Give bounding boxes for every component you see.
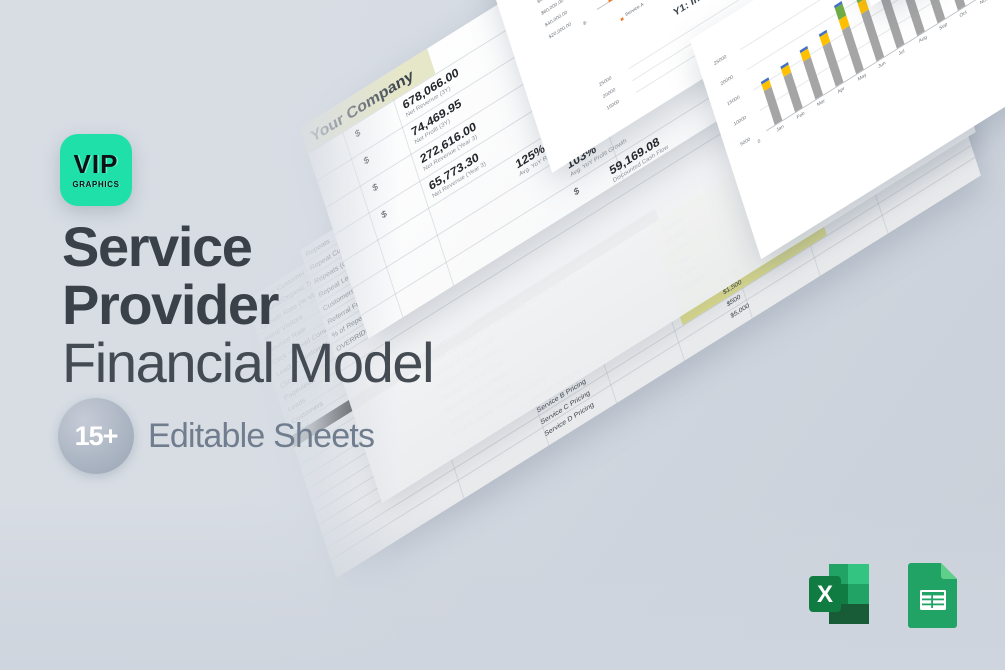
logo-subtitle: GRAPHICS (72, 180, 119, 189)
x-tick-label: Nov (979, 0, 988, 6)
legend-label-service-a: Service A (625, 2, 645, 18)
y-tick-label: 20000 (602, 87, 616, 100)
y-tick-label: 5000 (740, 137, 751, 148)
file-format-icons: X (803, 558, 969, 630)
x-tick-label: Jul (898, 49, 905, 58)
vip-graphics-logo: VIP GRAPHICS (60, 134, 132, 206)
x-tick-label: Feb (796, 111, 805, 121)
logo-wordmark: VIP (74, 151, 119, 177)
y-tick-label: 10000 (733, 115, 747, 128)
x-tick-label: May (857, 72, 867, 82)
bar-service-a-year1 (585, 0, 620, 2)
x-tick-label: Jan (776, 124, 785, 133)
y-tick-label: 25000 (598, 75, 612, 88)
title-line-1: Service (62, 218, 492, 276)
sheet-count-badge: 15+ (58, 398, 134, 474)
legend-swatch-service-a (620, 17, 623, 21)
y-tick-label: 20000 (720, 74, 734, 87)
excel-icon[interactable]: X (803, 558, 875, 630)
x-tick-label: Jun (878, 60, 887, 69)
svg-text:X: X (817, 581, 833, 608)
page-title: Service Provider Financial Model (62, 218, 492, 393)
title-line-2: Provider (62, 276, 492, 334)
y-tick-label: 15000 (727, 95, 741, 108)
y-tick-label: 15000 (606, 99, 620, 112)
sheet-count-label: Editable Sheets (148, 417, 374, 456)
y-tick-label: 0 (757, 138, 761, 145)
x-tick-label: Aug (918, 34, 927, 44)
x-tick-label: Oct (959, 10, 967, 19)
y-tick-label: $- (583, 20, 589, 28)
x-tick-label: Apr (837, 86, 845, 95)
x-tick-label: Sep (939, 22, 948, 32)
poster-canvas: Lead -> Customer Conversion Rate Inbound… (0, 0, 1005, 670)
x-tick-label: Mar (817, 98, 826, 108)
y-tick-label: 25000 (713, 54, 727, 67)
title-line-3: Financial Model (62, 334, 492, 392)
sheet-count-badge-row: 15+ Editable Sheets (58, 398, 374, 474)
google-sheets-icon[interactable] (897, 558, 969, 630)
